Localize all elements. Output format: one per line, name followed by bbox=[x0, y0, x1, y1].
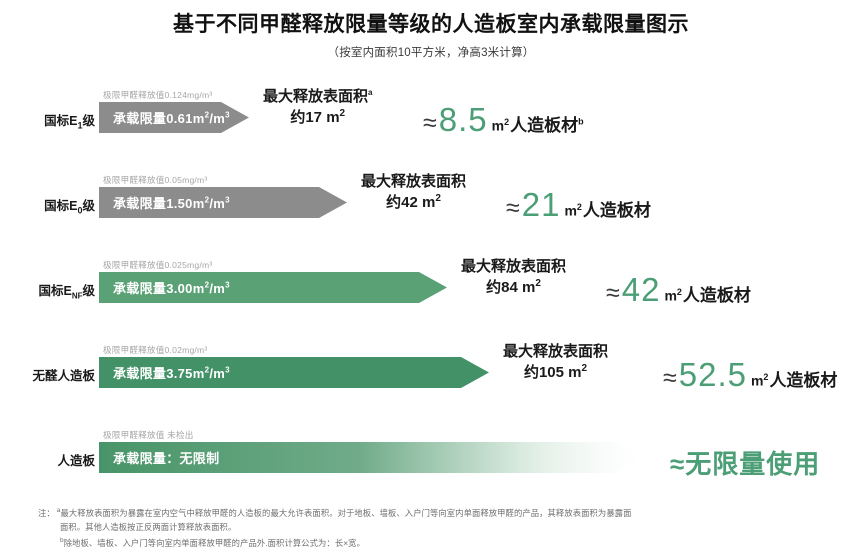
result-material: 人造板材b bbox=[510, 111, 584, 136]
page-subtitle: （按室内面积10平方米，净高3米计算） bbox=[0, 44, 862, 60]
result-unit: m2 bbox=[751, 372, 768, 389]
surface-area-value: 约17 m2 bbox=[263, 107, 372, 128]
row-label-1: 国标E1级 bbox=[10, 110, 95, 131]
row-label-5: 人造板 bbox=[10, 450, 95, 469]
approx-symbol: ≈ bbox=[663, 364, 677, 393]
footnote-line-3: b除地板、墙板、入户门等向室内单面释放甲醛的产品外.面积计算公式为：长×宽。 bbox=[38, 535, 838, 550]
footnote-text-2: 面积。其他人造板按正反两面计算释放表面积。 bbox=[60, 522, 236, 532]
row-bar-label-1: 承载限量0.61m2/m3 bbox=[99, 108, 230, 127]
result-value: 42 bbox=[622, 273, 661, 306]
approx-symbol: ≈ bbox=[506, 194, 520, 223]
surface-area-title: 最大释放表面积 bbox=[503, 342, 608, 362]
chart-row: 国标E1级极限甲醛释放值0.124mg/m³承载限量0.61m2/m3最大释放表… bbox=[0, 80, 862, 165]
surface-area-title: 最大释放表面积 bbox=[361, 172, 466, 192]
row-caption-5: 极限甲醛释放值 未检出 bbox=[103, 429, 194, 441]
row-surface-area-3: 最大释放表面积约84 m2 bbox=[461, 257, 566, 299]
result-material: 人造板材 bbox=[683, 281, 751, 306]
result-value: 21 bbox=[522, 188, 561, 221]
row-result-3: ≈42m2人造板材 bbox=[606, 273, 751, 308]
row-bar-label-2: 承载限量1.50m2/m3 bbox=[99, 193, 230, 212]
surface-area-title: 最大释放表面积a bbox=[263, 87, 372, 107]
result-material: 人造板材 bbox=[583, 196, 651, 221]
row-result-2: ≈21m2人造板材 bbox=[506, 188, 651, 223]
page-title: 基于不同甲醛释放限量等级的人造板室内承载限量图示 bbox=[0, 12, 862, 37]
chart-row: 国标ENF级极限甲醛释放值0.025mg/m³承载限量3.00m2/m3最大释放… bbox=[0, 250, 862, 335]
row-caption-2: 极限甲醛释放值0.05mg/m³ bbox=[103, 174, 207, 186]
row-surface-area-4: 最大释放表面积约105 m2 bbox=[503, 342, 608, 384]
row-result-4: ≈52.5m2人造板材 bbox=[663, 358, 837, 393]
surface-area-value: 约84 m2 bbox=[461, 277, 566, 298]
row-surface-area-1: 最大释放表面积a约17 m2 bbox=[263, 87, 372, 129]
result-unit: m2 bbox=[492, 117, 509, 134]
result-unit: m2 bbox=[564, 202, 581, 219]
surface-area-value: 约42 m2 bbox=[361, 192, 466, 213]
row-bar-5: 承载限量：无限制 bbox=[99, 442, 644, 473]
chart-row: 无醛人造板极限甲醛释放值0.02mg/m³承载限量3.75m2/m3最大释放表面… bbox=[0, 335, 862, 420]
footnote-label: 注： bbox=[38, 508, 55, 518]
footnote-text-3: 除地板、墙板、入户门等向室内单面释放甲醛的产品外.面积计算公式为：长×宽。 bbox=[64, 538, 365, 548]
result-value: 8.5 bbox=[439, 103, 488, 136]
footnote-line-2: 面积。其他人造板按正反两面计算释放表面积。 bbox=[38, 520, 838, 535]
chart-rows: 国标E1级极限甲醛释放值0.124mg/m³承载限量0.61m2/m3最大释放表… bbox=[0, 80, 862, 505]
chart-row: 国标E0级极限甲醛释放值0.05mg/m³承载限量1.50m2/m3最大释放表面… bbox=[0, 165, 862, 250]
row-caption-4: 极限甲醛释放值0.02mg/m³ bbox=[103, 344, 207, 356]
row-bar-1: 承载限量0.61m2/m3 bbox=[99, 102, 249, 133]
result-material: 人造板材 bbox=[769, 366, 837, 391]
footnote: 注：a最大释放表面积为暴露在室内空气中释放甲醛的人造板的最大允许表面积。对于地板… bbox=[38, 505, 838, 550]
row-bar-label-4: 承载限量3.75m2/m3 bbox=[99, 363, 230, 382]
row-surface-area-2: 最大释放表面积约42 m2 bbox=[361, 172, 466, 214]
row-bar-3: 承载限量3.00m2/m3 bbox=[99, 272, 447, 303]
row-bar-label-5: 承载限量：无限制 bbox=[99, 448, 219, 467]
row-label-3: 国标ENF级 bbox=[10, 280, 95, 301]
approx-symbol: ≈ bbox=[423, 109, 437, 138]
result-value: 52.5 bbox=[679, 358, 747, 391]
row-caption-3: 极限甲醛释放值0.025mg/m³ bbox=[103, 259, 212, 271]
row-caption-1: 极限甲醛释放值0.124mg/m³ bbox=[103, 89, 212, 101]
surface-area-value: 约105 m2 bbox=[503, 362, 608, 383]
row-bar-4: 承载限量3.75m2/m3 bbox=[99, 357, 489, 388]
result-unit: m2 bbox=[664, 287, 681, 304]
row-bar-label-3: 承载限量3.00m2/m3 bbox=[99, 278, 230, 297]
row-bar-2: 承载限量1.50m2/m3 bbox=[99, 187, 347, 218]
chart-header: 基于不同甲醛释放限量等级的人造板室内承载限量图示 （按室内面积10平方米，净高3… bbox=[0, 12, 862, 60]
surface-area-title: 最大释放表面积 bbox=[461, 257, 566, 277]
approx-symbol: ≈ bbox=[606, 279, 620, 308]
row-label-2: 国标E0级 bbox=[10, 195, 95, 216]
chart-row: 人造板极限甲醛释放值 未检出承载限量：无限制≈无限量使用 bbox=[0, 420, 862, 505]
row-label-4: 无醛人造板 bbox=[10, 365, 95, 384]
row-result-5: ≈无限量使用 bbox=[670, 444, 820, 481]
row-result-1: ≈8.5m2人造板材b bbox=[423, 103, 584, 138]
footnote-line-1: 注：a最大释放表面积为暴露在室内空气中释放甲醛的人造板的最大允许表面积。对于地板… bbox=[38, 505, 838, 520]
unlimited-usage-text: ≈无限量使用 bbox=[670, 444, 820, 481]
footnote-text-1: 最大释放表面积为暴露在室内空气中释放甲醛的人造板的最大允许表面积。对于地板、墙板… bbox=[61, 508, 632, 518]
